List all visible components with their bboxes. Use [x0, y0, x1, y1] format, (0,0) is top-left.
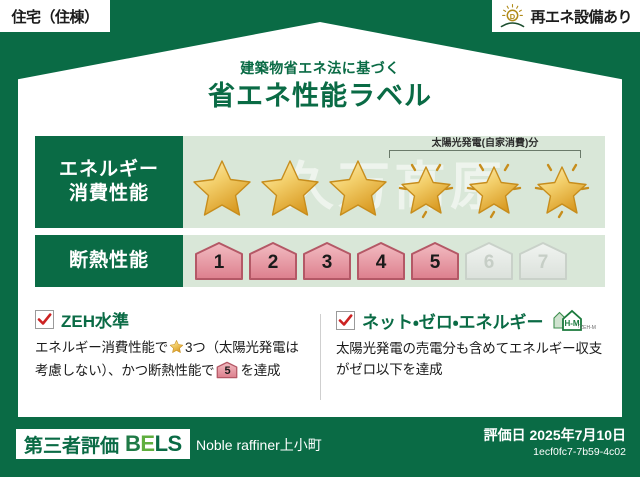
rating-rows: エネルギー 消費性能 久万高原 太陽光発電(自家消費)分: [35, 136, 605, 294]
energy-performance-label: 住宅（住棟） D 再エネ設備あり 建築: [0, 0, 640, 477]
insulation-label: 断熱性能: [69, 249, 149, 273]
star-filled-solar: [393, 155, 459, 221]
insulation-step-current: 5: [409, 240, 461, 282]
energy-performance-label-box: エネルギー 消費性能: [35, 136, 183, 228]
renewable-equipment-label: 再エネ設備あり: [530, 6, 632, 27]
statement-net-zero-body: 太陽光発電の売電分も含めてエネルギー収支がゼロ以下を達成: [336, 339, 605, 381]
statement-zeh-text-1: エネルギー消費性能で: [35, 340, 168, 355]
building-name: Noble raffiner上小町: [196, 435, 322, 455]
energy-rating-body: 久万高原 太陽光発電(自家消費)分: [183, 136, 605, 228]
checkbox-checked-icon: [336, 311, 355, 330]
building-type-tag: 住宅（住棟）: [0, 0, 110, 32]
insulation-step-value: 6: [463, 253, 515, 272]
energy-label-line2: 消費性能: [69, 182, 149, 206]
label-title: 省エネ性能ラベル: [18, 80, 622, 114]
insulation-scale: 1 2 3 4: [183, 240, 569, 282]
label-card: 建築物省エネ法に基づく 省エネ性能ラベル エネルギー 消費性能 久万高原 太陽光…: [18, 22, 622, 417]
insulation-step-inactive: 6: [463, 240, 515, 282]
evaluation-info: 評価日 2025年7月10日 1ecf0fc7-7b59-4c02: [484, 426, 626, 460]
sun-icon: D: [498, 3, 528, 29]
energy-label-line1: エネルギー: [59, 158, 159, 182]
building-type-tag-label: 住宅（住棟）: [11, 6, 98, 27]
footer: 第三者評価 BELS Noble raffiner上小町 評価日 2025年7月…: [0, 417, 640, 477]
evaluation-id: 1ecf0fc7-7b59-4c02: [484, 446, 626, 460]
star-icon: [169, 342, 184, 357]
star-filled: [189, 155, 255, 221]
bels-logo-ls: LS: [155, 431, 182, 456]
title-block: 建築物省エネ法に基づく 省エネ性能ラベル: [18, 60, 622, 114]
statement-net-zero: ネット・ゼロ・エネルギー H-M 「ZEH-M」 太陽光発電の売電分も含めてエネ…: [320, 307, 605, 382]
insulation-step-value: 7: [517, 253, 569, 272]
energy-performance-row: エネルギー 消費性能 久万高原 太陽光発電(自家消費)分: [35, 136, 605, 228]
star-filled: [257, 155, 323, 221]
evaluation-date: 評価日 2025年7月10日: [484, 426, 626, 444]
statement-net-zero-header: ネット・ゼロ・エネルギー H-M 「ZEH-M」: [336, 307, 605, 333]
insulation-step: 1: [193, 240, 245, 282]
star-filled: [325, 155, 391, 221]
insulation-step: 2: [247, 240, 299, 282]
statement-zeh-title: ZEH水準: [61, 307, 129, 332]
insulation-step-value: 3: [301, 253, 353, 272]
insulation-badge-value: 5: [216, 366, 238, 377]
svg-text:「ZEH-M」: 「ZEH-M」: [575, 325, 596, 331]
statement-zeh-body: エネルギー消費性能で3つ（太陽光発電は考慮しない）、かつ断熱性能で5を達成: [35, 338, 306, 382]
insulation-performance-row: 断熱性能 1: [35, 235, 605, 287]
insulation-badge-icon: 5: [216, 361, 238, 379]
bels-logo-b: B: [125, 431, 140, 456]
insulation-step-inactive: 7: [517, 240, 569, 282]
label-subtitle: 建築物省エネ法に基づく: [18, 60, 622, 77]
energy-star-rating: [183, 155, 595, 221]
star-filled-solar: [529, 155, 595, 221]
bels-logo-e: E: [140, 431, 154, 456]
insulation-performance-label-box: 断熱性能: [35, 235, 183, 287]
insulation-step-value: 1: [193, 253, 245, 272]
statements-block: ZEH水準 エネルギー消費性能で3つ（太陽光発電は考慮しない）、かつ断熱性能で5…: [35, 307, 605, 382]
insulation-step-value: 5: [409, 253, 461, 272]
insulation-rating-body: 1 2 3 4: [183, 235, 605, 287]
bels-logo: BELS: [125, 431, 182, 457]
star-filled-solar: [461, 155, 527, 221]
bels-badge: 第三者評価 BELS: [16, 429, 190, 459]
third-party-eval-label: 第三者評価: [24, 431, 119, 458]
renewable-equipment-badge: D 再エネ設備あり: [492, 0, 640, 32]
statement-net-zero-title: ネット・ゼロ・エネルギー: [362, 308, 544, 333]
statement-zeh: ZEH水準 エネルギー消費性能で3つ（太陽光発電は考慮しない）、かつ断熱性能で5…: [35, 307, 320, 382]
insulation-step: 4: [355, 240, 407, 282]
insulation-step: 3: [301, 240, 353, 282]
statement-zeh-text-3: を達成: [240, 363, 280, 378]
svg-text:D: D: [510, 12, 516, 21]
checkbox-checked-icon: [35, 310, 54, 329]
insulation-step-value: 2: [247, 253, 299, 272]
statement-zeh-header: ZEH水準: [35, 307, 306, 332]
zeh-m-logo-icon: H-M 「ZEH-M」: [552, 307, 596, 333]
solar-annotation-label: 太陽光発電(自家消費)分: [389, 138, 581, 149]
insulation-step-value: 4: [355, 253, 407, 272]
